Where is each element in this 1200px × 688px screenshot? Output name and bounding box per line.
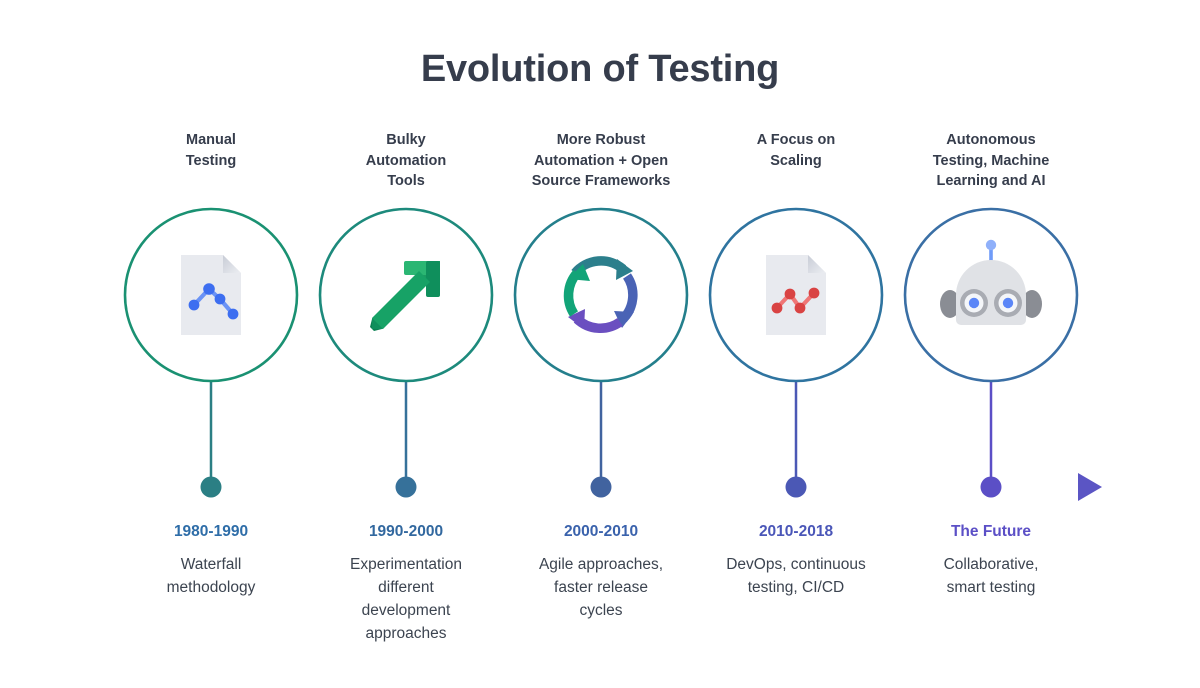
- stage-autonomous-testing-ai[interactable]: AutonomousTesting, MachineLearning and A…: [891, 0, 1091, 688]
- stage-year-label: The Future: [881, 521, 1101, 542]
- stage-description: Agile approaches,faster releasecycles: [491, 553, 711, 622]
- stage-heading: More RobustAutomation + OpenSource Frame…: [491, 130, 711, 192]
- stage-year-label: 1980-1990: [101, 521, 321, 542]
- stage-description: DevOps, continuoustesting, CI/CD: [686, 553, 906, 599]
- timeline-infographic: Evolution of Testing: [0, 0, 1200, 688]
- stage-heading: A Focus onScaling: [686, 130, 906, 171]
- stage-heading: AutonomousTesting, MachineLearning and A…: [881, 130, 1101, 192]
- stage-manual-testing[interactable]: ManualTesting 1980-1990 Waterfallmethodo…: [111, 0, 311, 688]
- stage-focus-on-scaling[interactable]: A Focus onScaling 2010-2018 DevOps, cont…: [696, 0, 896, 688]
- stage-robust-automation-open-source[interactable]: More RobustAutomation + OpenSource Frame…: [501, 0, 701, 688]
- stage-year-label: 1990-2000: [296, 521, 516, 542]
- stage-heading: BulkyAutomationTools: [296, 130, 516, 192]
- stage-description: Experimentationdifferentdevelopmentappro…: [296, 553, 516, 645]
- stage-description: Waterfallmethodology: [101, 553, 321, 599]
- stage-year-label: 2000-2010: [491, 521, 711, 542]
- stage-heading: ManualTesting: [101, 130, 321, 171]
- stage-bulky-automation-tools[interactable]: BulkyAutomationTools 1990-2000 Experimen…: [306, 0, 506, 688]
- stage-year-label: 2010-2018: [686, 521, 906, 542]
- stage-description: Collaborative,smart testing: [881, 553, 1101, 599]
